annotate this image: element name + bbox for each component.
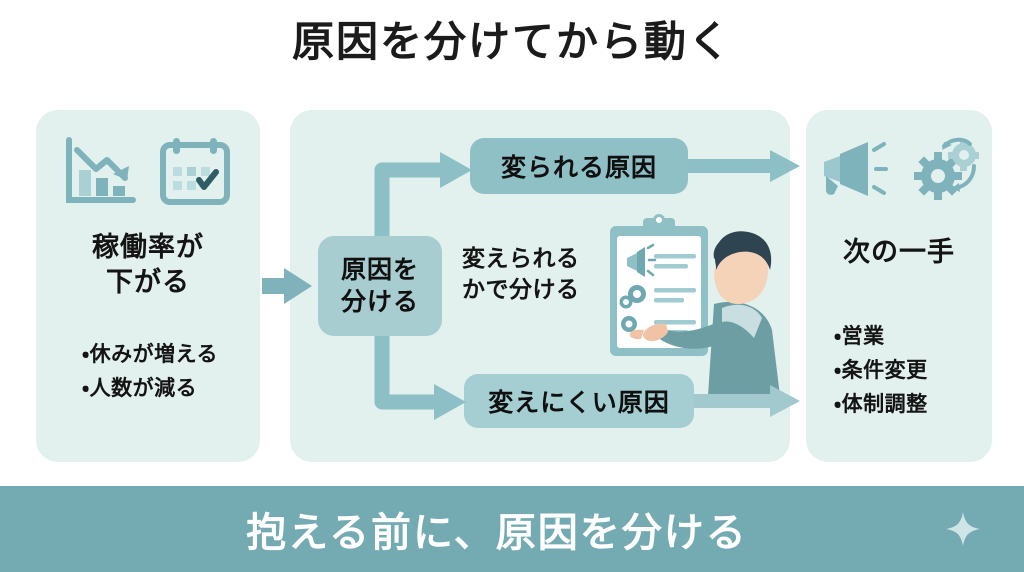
left-panel-heading: 稼働率が 下がる: [36, 230, 260, 299]
left-heading-line1: 稼働率が: [36, 230, 260, 265]
right-panel-bullets: ・営業 ・条件変更 ・体制調整: [806, 320, 992, 422]
split-causes-box[interactable]: 原因を 分ける: [318, 236, 442, 336]
changeable-cause-box[interactable]: 変られる原因: [470, 138, 688, 194]
changeable-box-label: 変られる原因: [501, 148, 657, 184]
left-panel-icons: [36, 136, 260, 208]
list-item: ・営業: [834, 320, 992, 354]
sparkle-icon: [946, 512, 980, 546]
person-pointing-at-clipboard-illustration: [596, 212, 792, 396]
calendar-check-icon: [157, 136, 233, 208]
infographic-slide: 原因を分けてから動く: [0, 0, 1024, 572]
list-item: ・人数が減る: [82, 372, 260, 406]
right-panel-icons: [806, 136, 992, 202]
list-item: ・休みが増える: [82, 338, 260, 372]
page-title: 原因を分けてから動く: [0, 18, 1024, 66]
megaphone-icon: [816, 136, 890, 202]
banner-text: 抱える前に、原因を分ける: [0, 486, 1024, 572]
list-item: ・体制調整: [834, 388, 992, 422]
left-panel-bullets: ・休みが増える ・人数が減る: [36, 338, 260, 406]
gears-cycle-icon: [908, 136, 982, 202]
bottom-banner: 抱える前に、原因を分ける: [0, 486, 1024, 572]
split-box-line2: 分ける: [341, 286, 419, 319]
list-item: ・条件変更: [834, 354, 992, 388]
split-box-line1: 原因を: [341, 254, 419, 287]
declining-bar-chart-icon: [63, 136, 139, 208]
left-heading-line2: 下がる: [36, 265, 260, 300]
right-panel-heading: 次の一手: [806, 235, 992, 270]
